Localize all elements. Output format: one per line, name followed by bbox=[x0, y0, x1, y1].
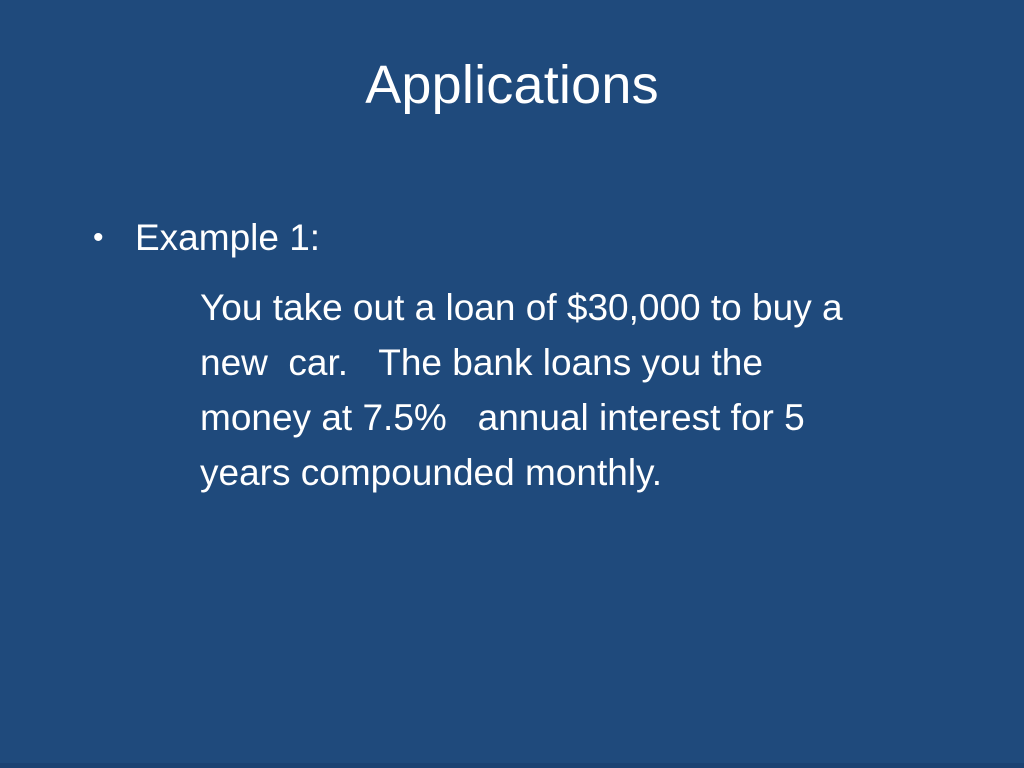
slide-body: • Example 1: You take out a loan of $30,… bbox=[0, 214, 1024, 500]
example-problem-text: You take out a loan of $30,000 to buy a … bbox=[0, 280, 1024, 500]
bullet-point-icon: • bbox=[93, 214, 133, 262]
slide-bottom-edge bbox=[0, 763, 1024, 768]
presentation-slide: Applications • Example 1: You take out a… bbox=[0, 0, 1024, 768]
paragraph-line: You take out a loan of $30,000 to buy a bbox=[200, 280, 1024, 335]
list-item: • Example 1: bbox=[0, 214, 1024, 262]
paragraph-line: new car. The bank loans you the bbox=[200, 335, 1024, 390]
page-title: Applications bbox=[0, 54, 1024, 116]
paragraph-line: money at 7.5% annual interest for 5 bbox=[200, 390, 1024, 445]
paragraph-line: years compounded monthly. bbox=[200, 445, 1024, 500]
